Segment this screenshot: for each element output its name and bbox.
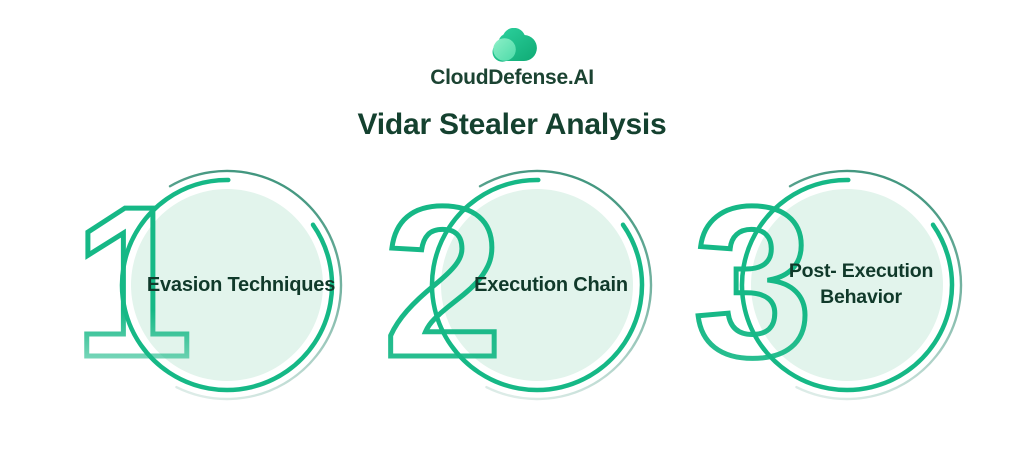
numeral-three-outline-icon: 3 — [693, 161, 813, 402]
brand-name: CloudDefense.AI — [0, 66, 1024, 90]
step-item-3[interactable]: 3 Post- Execution Behavior — [675, 160, 985, 410]
step-3-graphic: 3 — [675, 160, 985, 410]
step-item-2[interactable]: 2 Execution Chain — [365, 160, 675, 410]
numeral-two-outline-icon: 2 — [383, 161, 503, 402]
numeral-one-outline-icon: 1 — [73, 161, 193, 402]
brand-block: CloudDefense.AI — [0, 28, 1024, 90]
page-title: Vidar Stealer Analysis — [0, 108, 1024, 142]
step-item-1[interactable]: 1 Evasion Techniques — [55, 160, 365, 410]
step-2-graphic: 2 — [365, 160, 675, 410]
steps-row: 1 Evasion Techniques — [0, 160, 1024, 410]
infographic-canvas: CloudDefense.AI Vidar Stealer Analysis — [0, 0, 1024, 455]
step-1-graphic: 1 — [55, 160, 365, 410]
cloud-shield-logo-icon — [484, 28, 540, 62]
